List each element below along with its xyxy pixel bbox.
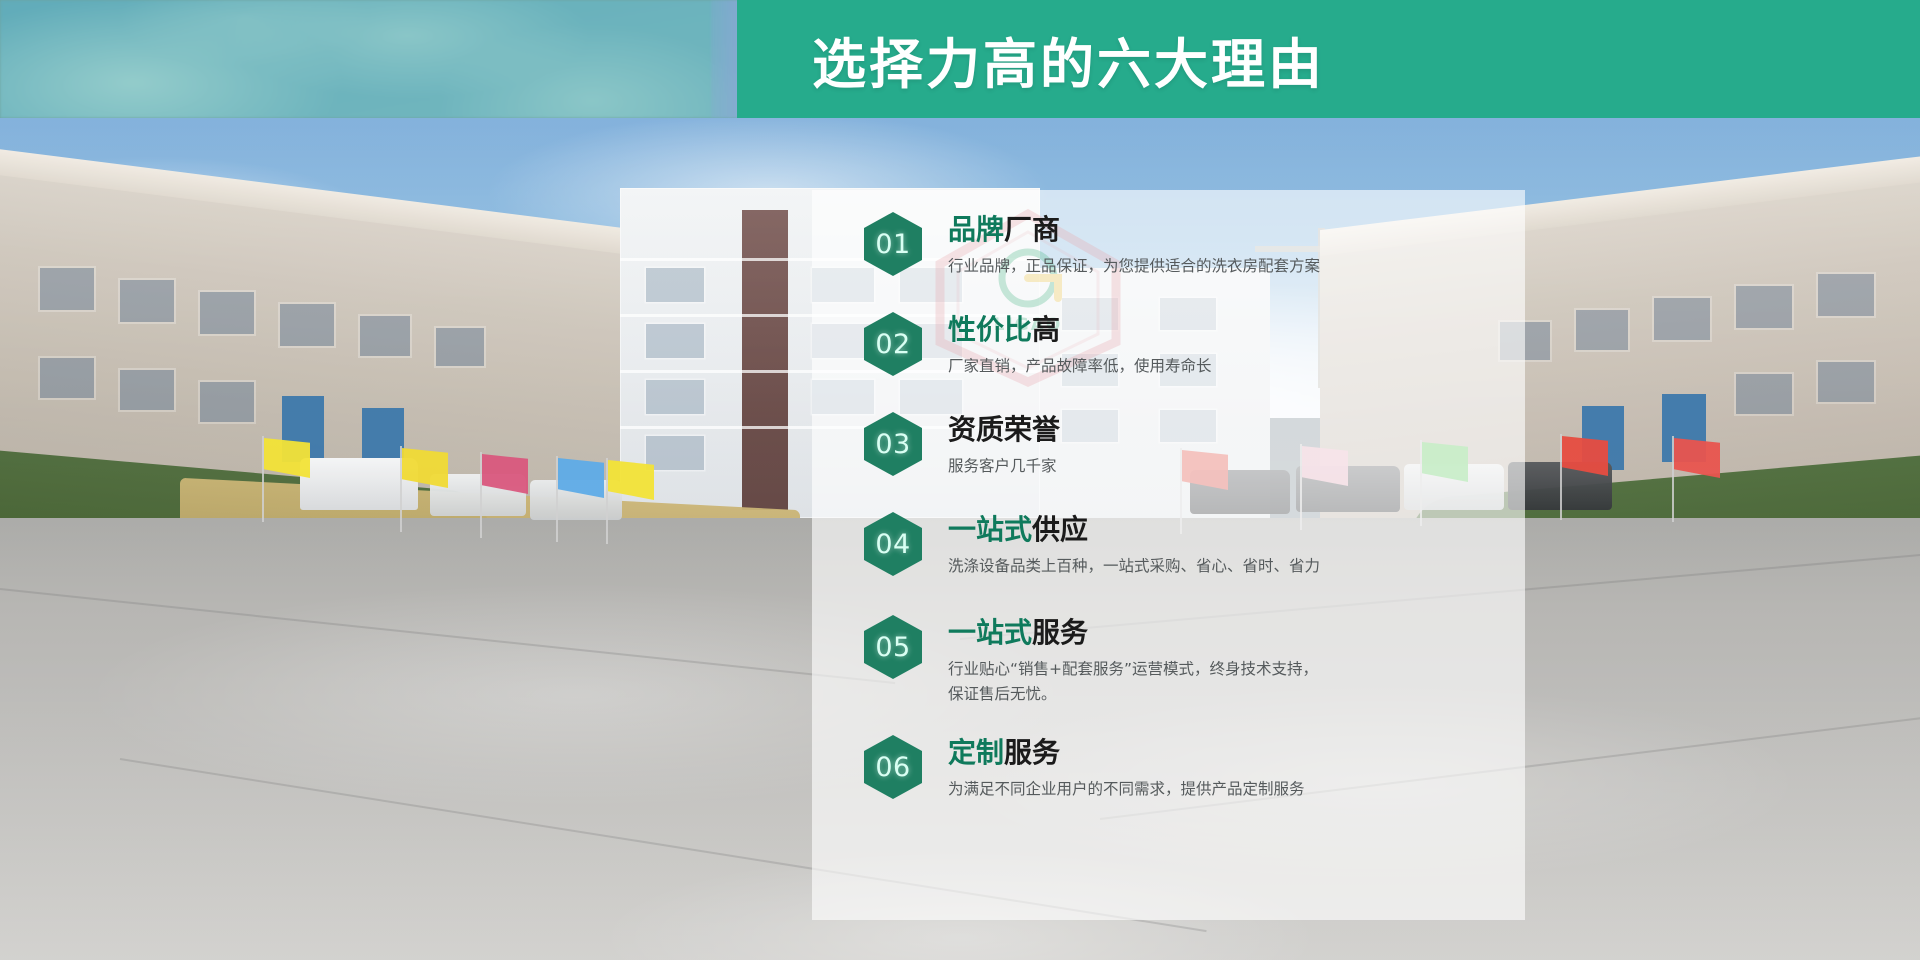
left-building-window <box>436 328 484 366</box>
header-banner: 选择力高的六大理由 <box>0 0 1920 118</box>
header-sky-edge-gradient <box>711 0 740 118</box>
reason-item-01[interactable]: 01 品牌厂商 行业品牌，正品保证，为您提供适合的洗衣房配套方案 <box>864 212 1504 279</box>
left-building-window <box>200 292 254 334</box>
reason-title-accent: 性价比 <box>948 313 1032 346</box>
center-building-window <box>646 436 704 470</box>
flag-pole <box>1672 436 1674 522</box>
hexagon-badge-04: 04 <box>864 512 922 576</box>
reason-title-accent: 一站式 <box>948 616 1032 649</box>
left-building-window <box>200 382 254 422</box>
right-building-window <box>1736 374 1792 414</box>
left-building-window <box>120 370 174 410</box>
reason-title: 定制服务 <box>948 737 1504 768</box>
right-building-window <box>1576 310 1628 350</box>
reason-number: 02 <box>875 329 910 360</box>
reason-item-06[interactable]: 06 定制服务 为满足不同企业用户的不同需求，提供产品定制服务 <box>864 735 1504 802</box>
poster-stage: 选择力高的六大理由 LIGAO 01 品牌厂商 行业品牌，正品保证，为您提供适合… <box>0 0 1920 960</box>
reason-description: 行业品牌，正品保证，为您提供适合的洗衣房配套方案 <box>948 254 1504 279</box>
flag-pole <box>480 452 482 538</box>
right-building-window <box>1818 362 1874 402</box>
hexagon-badge-06: 06 <box>864 735 922 799</box>
flag-pole <box>606 458 608 544</box>
left-building-window <box>40 358 94 398</box>
reason-number: 06 <box>875 752 910 783</box>
hexagon-badge-05: 05 <box>864 615 922 679</box>
center-building-window <box>646 380 704 414</box>
reason-number: 05 <box>875 632 910 663</box>
reason-title-accent: 品牌 <box>948 213 1004 246</box>
hexagon-badge-02: 02 <box>864 312 922 376</box>
header-sky-tint-overlay <box>0 0 740 118</box>
left-building-window <box>40 268 94 310</box>
reasons-list: 01 品牌厂商 行业品牌，正品保证，为您提供适合的洗衣房配套方案 02 性价比高… <box>812 190 1525 920</box>
reason-item-05[interactable]: 05 一站式服务 行业贴心“销售+配套服务”运营模式，终身技术支持， 保证售后无… <box>864 615 1504 708</box>
reason-description: 服务客户几千家 <box>948 454 1504 479</box>
reasons-card: LIGAO 01 品牌厂商 行业品牌，正品保证，为您提供适合的洗衣房配套方案 0… <box>812 190 1525 920</box>
reason-body: 性价比高 厂家直销，产品故障率低，使用寿命长 <box>948 312 1504 379</box>
reason-title: 品牌厂商 <box>948 214 1504 245</box>
center-building-window <box>646 324 704 358</box>
left-building-window <box>360 316 410 356</box>
reason-title: 一站式供应 <box>948 514 1504 545</box>
reason-description: 行业贴心“销售+配套服务”运营模式，终身技术支持， 保证售后无忧。 <box>948 657 1504 707</box>
reason-number: 04 <box>875 529 910 560</box>
page-title: 选择力高的六大理由 <box>812 0 1325 118</box>
center-building-accent-column <box>742 210 788 510</box>
reason-body: 品牌厂商 行业品牌，正品保证，为您提供适合的洗衣房配套方案 <box>948 212 1504 279</box>
reason-title: 性价比高 <box>948 314 1504 345</box>
reason-item-03[interactable]: 03 资质荣誉 服务客户几千家 <box>864 412 1504 479</box>
reason-description: 为满足不同企业用户的不同需求，提供产品定制服务 <box>948 777 1504 802</box>
reason-title-rest: 供应 <box>1032 513 1088 546</box>
reason-title: 一站式服务 <box>948 617 1504 648</box>
right-building-window <box>1736 286 1792 328</box>
reason-body: 定制服务 为满足不同企业用户的不同需求，提供产品定制服务 <box>948 735 1504 802</box>
right-building-window <box>1818 274 1874 316</box>
reason-description: 厂家直销，产品故障率低，使用寿命长 <box>948 354 1504 379</box>
reason-number: 01 <box>875 229 910 260</box>
flag-pole <box>262 436 264 522</box>
left-building-window <box>120 280 174 322</box>
reason-title-rest: 服务 <box>1032 616 1088 649</box>
reason-item-04[interactable]: 04 一站式供应 洗涤设备品类上百种，一站式采购、省心、省时、省力 <box>864 512 1504 579</box>
reason-title-accent: 一站式 <box>948 513 1032 546</box>
reason-title-rest: 高 <box>1032 313 1060 346</box>
reason-body: 一站式供应 洗涤设备品类上百种，一站式采购、省心、省时、省力 <box>948 512 1504 579</box>
reason-title-rest: 资质荣誉 <box>948 413 1060 446</box>
reason-title-rest: 厂商 <box>1004 213 1060 246</box>
reason-title-accent: 定制 <box>948 736 1004 769</box>
flag-pole <box>1560 434 1562 520</box>
reason-title-rest: 服务 <box>1004 736 1060 769</box>
reason-description: 洗涤设备品类上百种，一站式采购、省心、省时、省力 <box>948 554 1504 579</box>
hexagon-badge-03: 03 <box>864 412 922 476</box>
reason-body: 资质荣誉 服务客户几千家 <box>948 412 1504 479</box>
reason-body: 一站式服务 行业贴心“销售+配套服务”运营模式，终身技术支持， 保证售后无忧。 <box>948 615 1504 708</box>
flag-pole <box>400 446 402 532</box>
reason-number: 03 <box>875 429 910 460</box>
reason-item-02[interactable]: 02 性价比高 厂家直销，产品故障率低，使用寿命长 <box>864 312 1504 379</box>
hexagon-badge-01: 01 <box>864 212 922 276</box>
right-building-window <box>1654 298 1710 340</box>
left-building-window <box>280 304 334 346</box>
flag-pole <box>556 456 558 542</box>
reason-title: 资质荣誉 <box>948 414 1504 445</box>
center-building-window <box>646 268 704 302</box>
